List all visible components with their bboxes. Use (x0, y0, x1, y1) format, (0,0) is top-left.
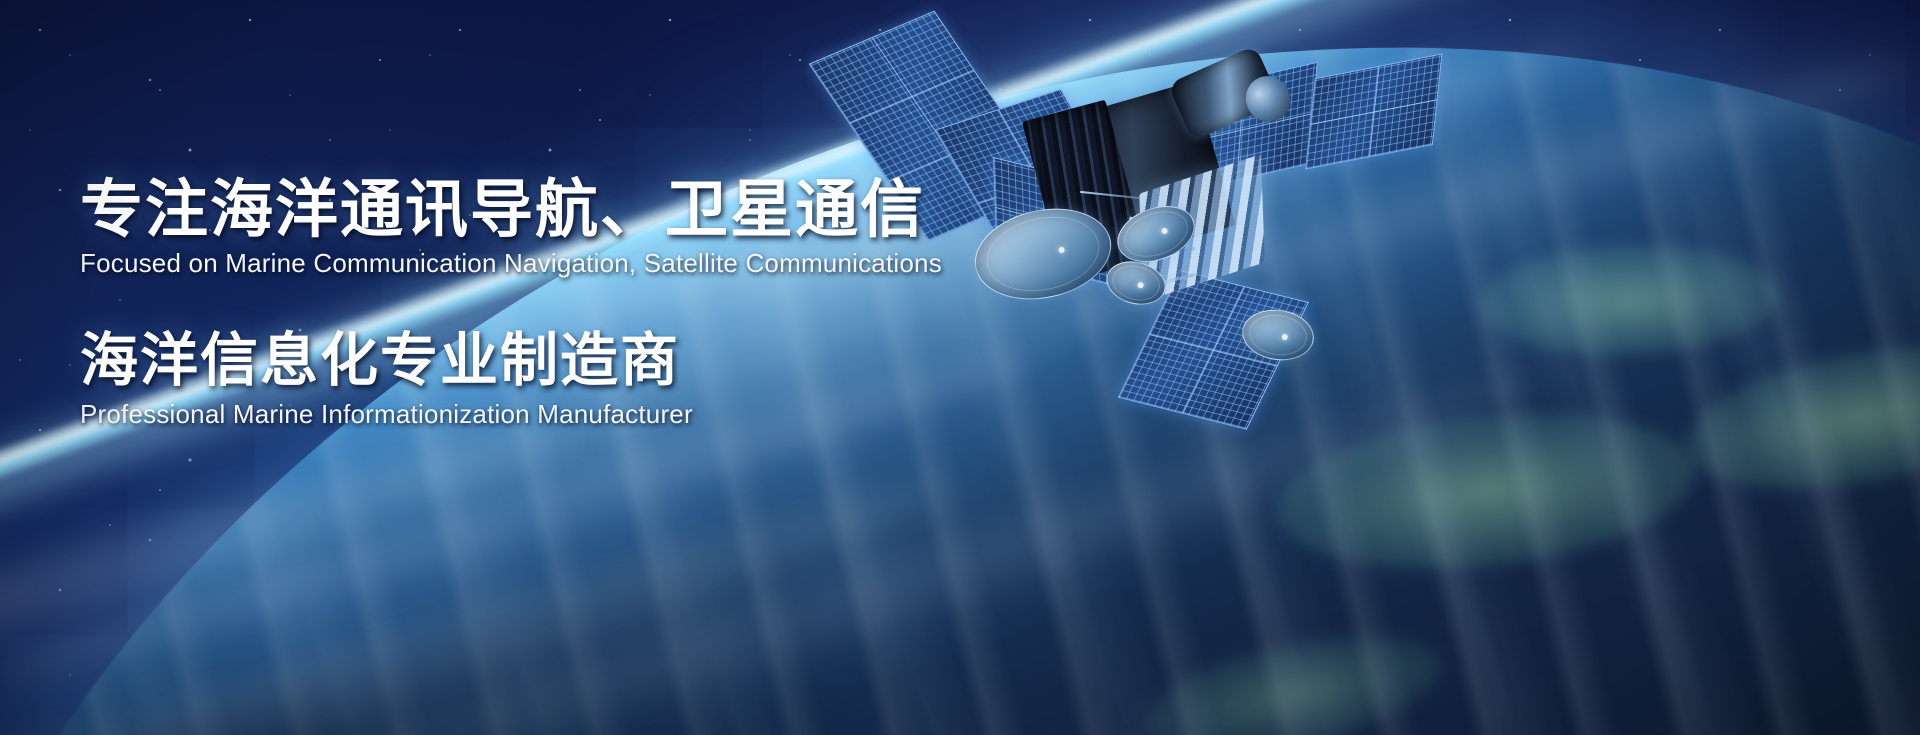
banner-block-1: 专注海洋通讯导航、卫星通信 Focused on Marine Communic… (80, 178, 1080, 279)
headline-primary-cn: 专注海洋通讯导航、卫星通信 (80, 178, 1080, 242)
headline-secondary-cn: 海洋信息化专业制造商 (80, 331, 1080, 390)
solar-panel-right-2 (1305, 53, 1442, 169)
banner-copy: 专注海洋通讯导航、卫星通信 Focused on Marine Communic… (80, 178, 1080, 430)
banner-block-2: 海洋信息化专业制造商 Professional Marine Informati… (80, 331, 1080, 430)
subheadline-primary-en: Focused on Marine Communication Navigati… (80, 248, 1080, 279)
subheadline-secondary-en: Professional Marine Informationization M… (80, 399, 1080, 430)
hero-banner: 专注海洋通讯导航、卫星通信 Focused on Marine Communic… (0, 0, 1920, 735)
